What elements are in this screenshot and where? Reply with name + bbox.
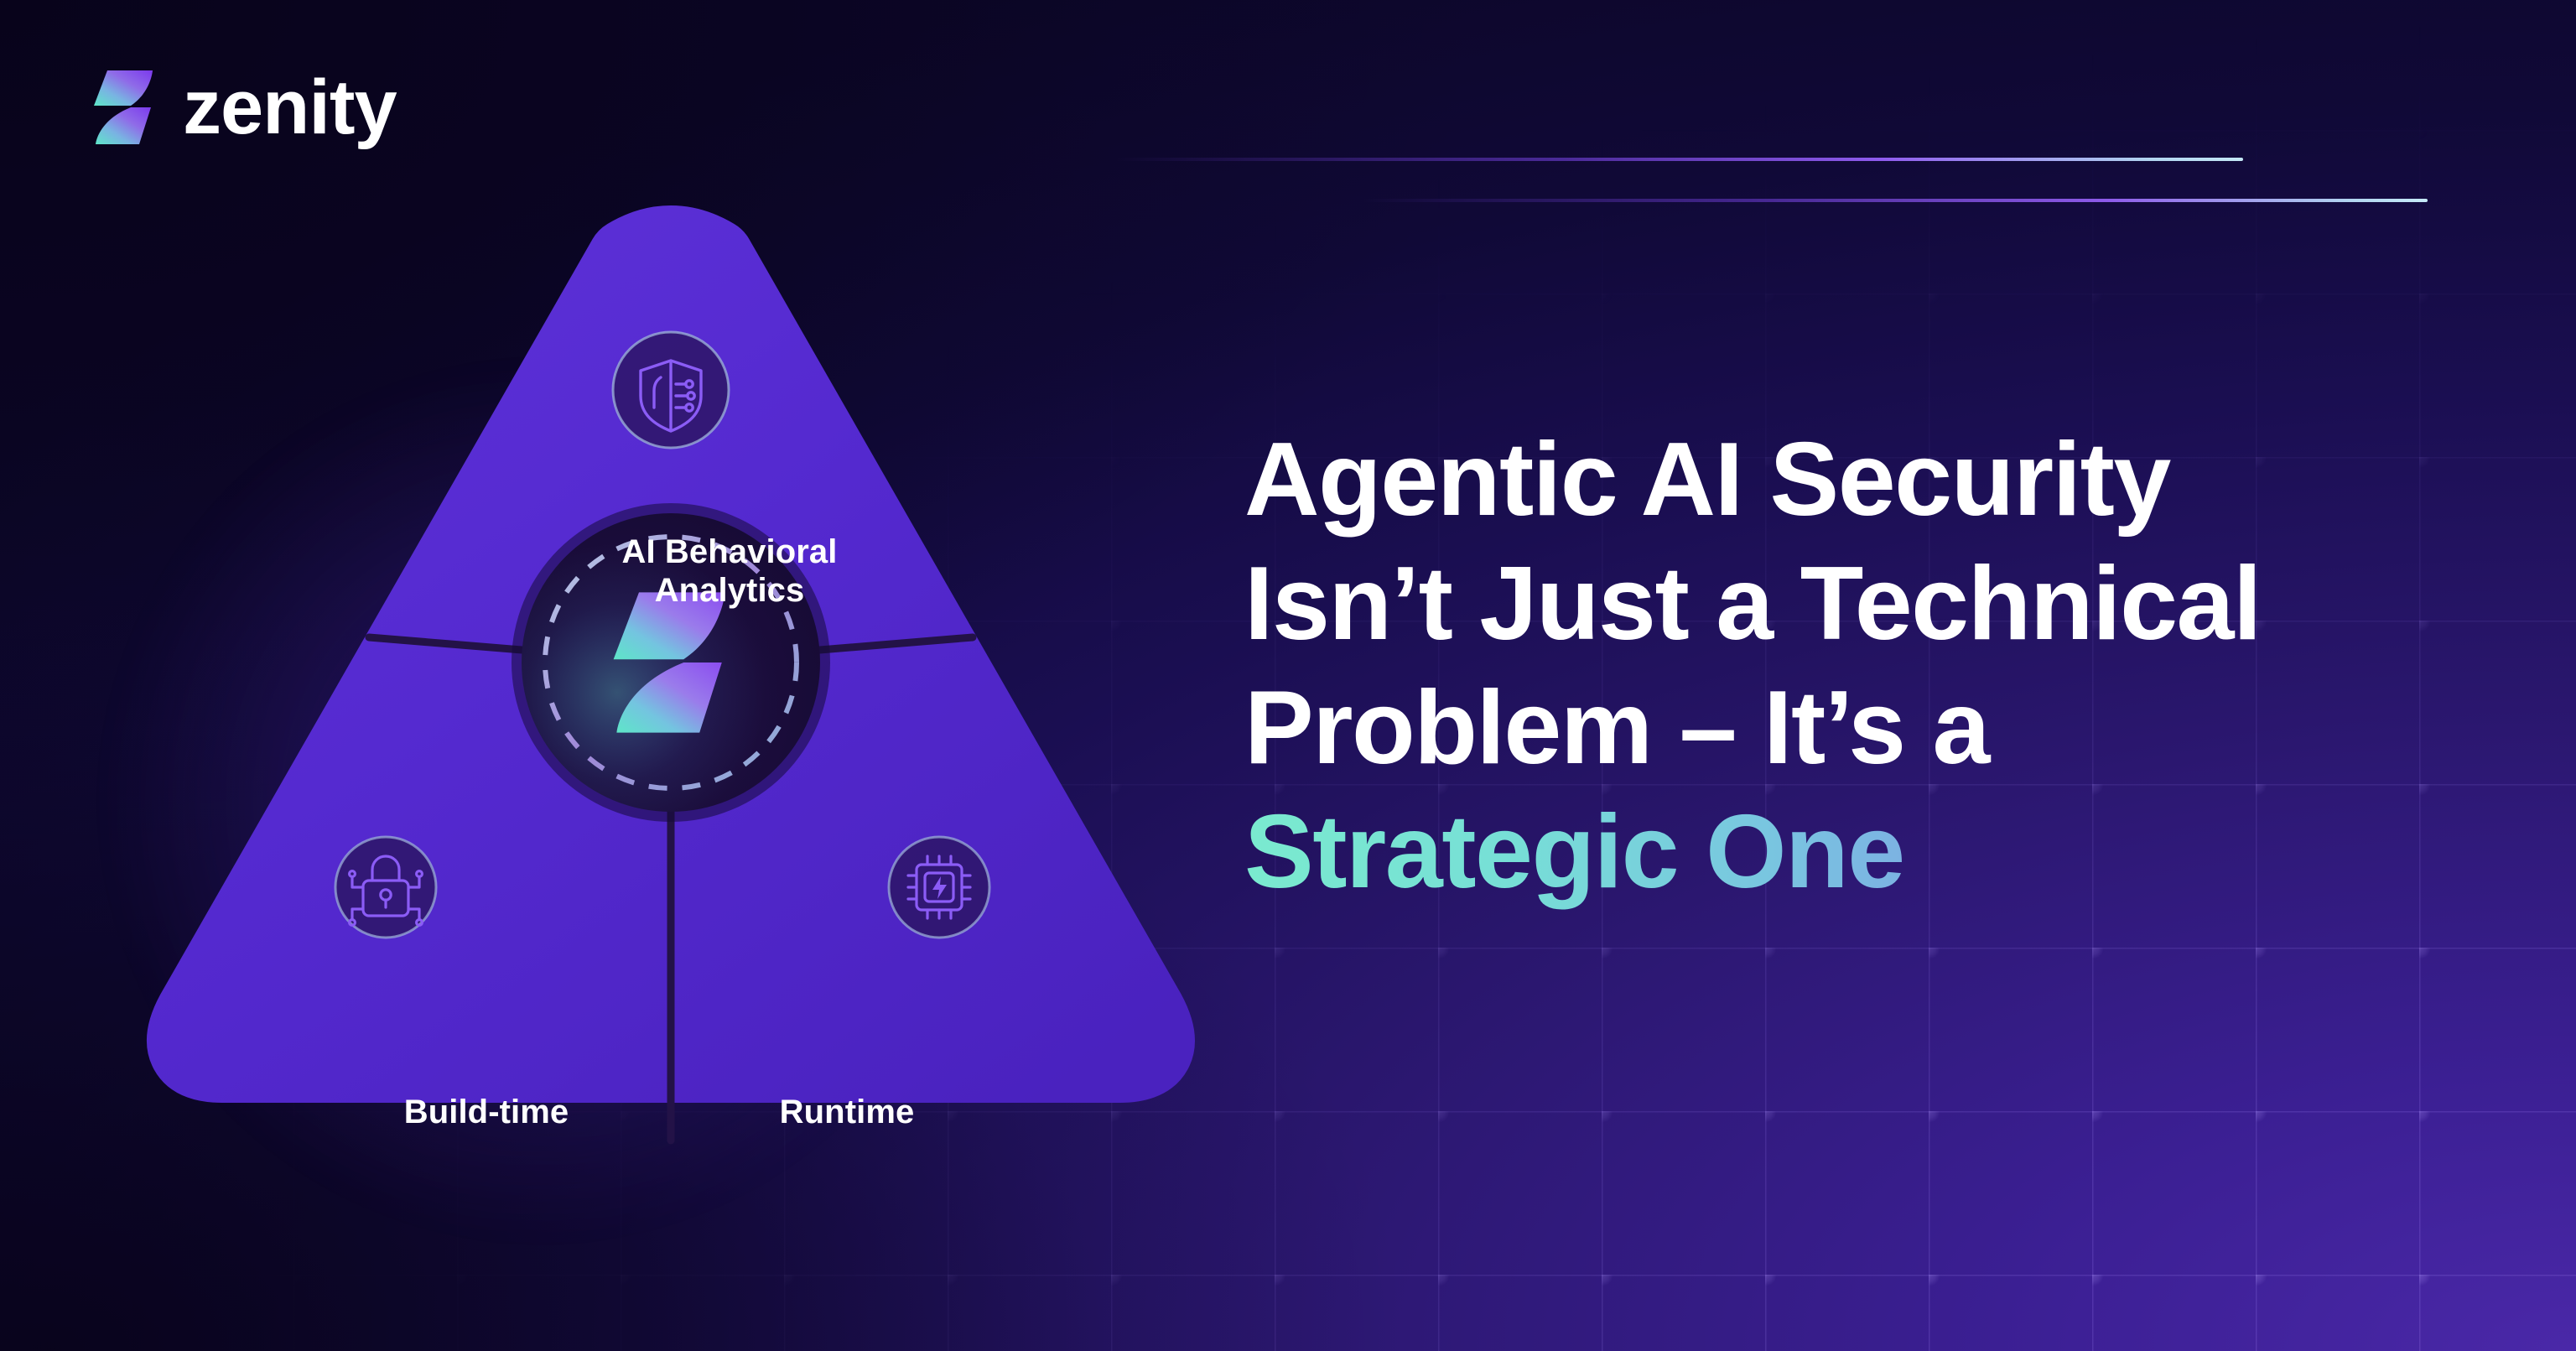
laser-streak-icon	[1115, 158, 2243, 161]
cpu-chip-bolt-icon	[908, 856, 970, 918]
node-runtime[interactable]	[889, 837, 989, 938]
brand-name: zenity	[183, 69, 397, 146]
brand-logo[interactable]: zenity	[91, 69, 397, 146]
node-ai-behavioral-analytics[interactable]	[613, 332, 729, 448]
node-build-time[interactable]	[335, 837, 436, 938]
zenity-z-mark-icon	[91, 70, 158, 144]
node-label-ai-behavioral-analytics: AI Behavioral Analytics	[553, 533, 906, 611]
laser-streak-icon	[1363, 199, 2428, 202]
headline-line-2: Isn’t Just a Technical	[1244, 542, 2418, 666]
hero-banner: zenity	[0, 0, 2576, 1351]
node-label-runtime: Runtime	[688, 1093, 1006, 1131]
triangle-framework-diagram: AI Behavioral Analytics Build-time Runti…	[159, 243, 1182, 1141]
headline-line-1: Agentic AI Security	[1244, 418, 2418, 542]
node-label-build-time: Build-time	[327, 1093, 646, 1131]
headline: Agentic AI Security Isn’t Just a Technic…	[1244, 418, 2418, 914]
headline-line-4-accent: Strategic One	[1244, 790, 2418, 914]
headline-line-3: Problem – It’s a	[1244, 666, 2418, 790]
